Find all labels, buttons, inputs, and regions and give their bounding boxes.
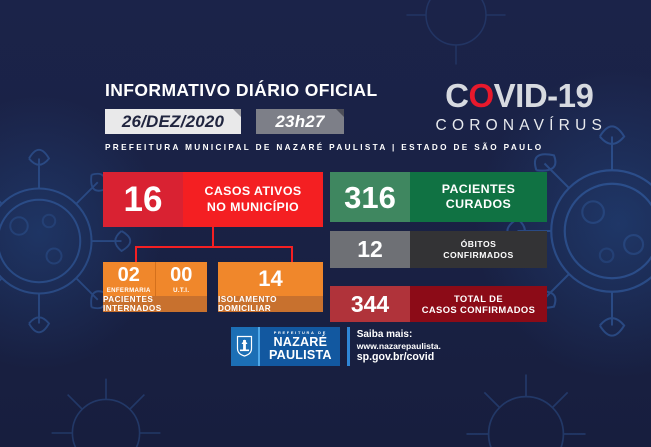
hospitalized-footer-label: PACIENTES INTERNADOS	[103, 296, 207, 312]
deaths-value: 12	[330, 231, 410, 268]
active-cases-value: 16	[103, 172, 183, 227]
active-cases-label: CASOS ATIVOS NO MUNICÍPIO	[183, 172, 323, 227]
bracket-drop-right	[291, 246, 293, 262]
coronavirus-wordmark: CORONAVÍRUS	[432, 117, 607, 135]
isolation-cell: 14	[218, 262, 323, 296]
poster-header: INFORMATIVO DIÁRIO OFICIAL 26/DEZ/2020 2…	[0, 0, 651, 160]
cured-label: PACIENTES CURADOS	[410, 172, 547, 222]
coronavirus-decoration-icon	[26, 353, 186, 447]
active-cases-label-line1: CASOS ATIVOS	[204, 184, 301, 199]
hospitalized-icu-value: 00	[170, 265, 192, 285]
stat-card-deaths: 12 ÓBITOS CONFIRMADOS	[330, 231, 547, 268]
total-confirmed-label: TOTAL DE CASOS CONFIRMADOS	[410, 286, 547, 322]
badge-fold-corner	[336, 109, 344, 117]
covid-wordmark: COVID-19	[432, 79, 607, 112]
stat-card-cured: 316 PACIENTES CURADOS	[330, 172, 547, 222]
hospitalized-ward-sublabel: ENFERMARIA	[107, 287, 151, 294]
isolation-value: 14	[258, 268, 282, 290]
city-logo-line1: NAZARÉ	[269, 336, 332, 349]
poster-footer: PREFEITURA DE NAZARÉ PAULISTA Saiba mais…	[231, 327, 441, 366]
badge-fold-corner	[233, 109, 241, 117]
bracket-drop-left	[135, 246, 137, 262]
coronavirus-decoration-icon	[441, 349, 611, 447]
cured-label-line2: CURADOS	[446, 197, 511, 212]
city-logo: PREFEITURA DE NAZARÉ PAULISTA	[258, 327, 340, 366]
isolation-footer-label: ISOLAMENTO DOMICILIAR	[218, 296, 323, 312]
coat-of-arms-icon	[236, 335, 253, 357]
covid-daily-report-poster: INFORMATIVO DIÁRIO OFICIAL 26/DEZ/2020 2…	[0, 0, 651, 447]
report-date-text: 26/DEZ/2020	[105, 109, 241, 134]
total-confirmed-value: 344	[330, 286, 410, 322]
municipality-subtitle: PREFEITURA MUNICIPAL DE NAZARÉ PAULISTA …	[105, 143, 543, 152]
bracket-bar	[135, 246, 293, 248]
cured-value: 316	[330, 172, 410, 222]
covid-wordmark-pre: C	[445, 77, 468, 114]
deaths-label: ÓBITOS CONFIRMADOS	[410, 231, 547, 268]
total-confirmed-label-line2: CASOS CONFIRMADOS	[422, 304, 536, 315]
active-cases-label-line2: NO MUNICÍPIO	[207, 200, 299, 215]
stat-card-total-confirmed: 344 TOTAL DE CASOS CONFIRMADOS	[330, 286, 547, 322]
more-info-url-line1: www.nazarepaulista.	[357, 341, 441, 351]
more-info-heading: Saiba mais:	[357, 329, 441, 341]
coat-of-arms-container	[231, 327, 258, 366]
hospitalized-icu-cell: 00 U.T.I.	[155, 262, 208, 296]
report-time-text: 23h27	[256, 109, 344, 134]
hospitalized-ward-cell: 02 ENFERMARIA	[103, 262, 155, 296]
stat-card-active-cases: 16 CASOS ATIVOS NO MUNICÍPIO	[103, 172, 323, 227]
bracket-stem	[212, 227, 214, 246]
breakdown-card-isolation: 14 ISOLAMENTO DOMICILIAR	[218, 262, 323, 312]
breakdown-card-hospitalized: 02 ENFERMARIA 00 U.T.I. PACIENTES INTERN…	[103, 262, 207, 312]
hospitalized-ward-value: 02	[118, 265, 140, 285]
more-info-url-line2: sp.gov.br/covid	[357, 351, 441, 363]
covid-brand-lockup: COVID-19 CORONAVÍRUS	[432, 79, 607, 135]
total-confirmed-label-line1: TOTAL DE	[454, 293, 503, 304]
page-title: INFORMATIVO DIÁRIO OFICIAL	[105, 80, 378, 101]
hospitalized-cells: 02 ENFERMARIA 00 U.T.I.	[103, 262, 207, 296]
report-time-badge: 23h27	[256, 109, 344, 134]
report-date-badge: 26/DEZ/2020	[105, 109, 241, 134]
more-info-link[interactable]: Saiba mais: www.nazarepaulista. sp.gov.b…	[347, 327, 441, 366]
covid-wordmark-post: VID-19	[494, 77, 594, 114]
isolation-cells: 14	[218, 262, 323, 296]
hospitalized-icu-sublabel: U.T.I.	[173, 287, 189, 294]
cured-label-line1: PACIENTES	[442, 182, 516, 197]
deaths-label-line2: CONFIRMADOS	[443, 250, 513, 260]
covid-wordmark-o: O	[469, 77, 494, 114]
deaths-label-line1: ÓBITOS	[461, 239, 497, 249]
city-logo-line2: PAULISTA	[269, 349, 332, 362]
